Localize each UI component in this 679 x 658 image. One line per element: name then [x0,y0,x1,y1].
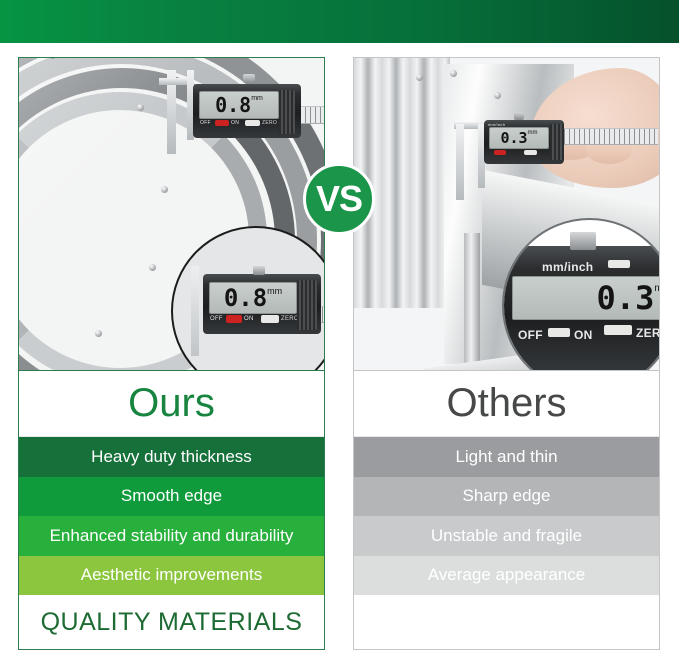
caliper-reading-others: 0.3 [500,131,527,146]
ours-footer-row: QUALITY MATERIALS [19,595,324,649]
inset-on-label-others: ON [574,328,593,342]
ours-panel: 0.8 mm OFF ON ZERO 0.8 mm OFF [18,57,325,650]
others-feature-label-3: Unstable and fragile [431,526,582,546]
vs-badge: VS [303,163,375,235]
inset-reading-ours: 0.8 [224,286,267,310]
caliper-zero-button-others [524,150,537,155]
ours-feature-label-1: Heavy duty thickness [91,447,252,467]
digital-caliper-ours: 0.8 mm OFF ON ZERO [159,64,324,160]
caliper-power-switch-others [494,150,506,155]
inset-zero-button-ours [261,315,279,323]
caliper-reading-ours: 0.8 [215,95,251,115]
others-title: Others [354,371,659,437]
others-feature-label-2: Sharp edge [463,486,551,506]
ours-feature-row-2: Smooth edge [19,477,324,517]
ours-feature-row-3: Enhanced stability and durability [19,516,324,556]
caliper-on-label-ours: ON [231,120,239,126]
caliper-power-switch-ours [215,120,229,126]
caliper-mode-label-others: mm/inch [488,122,505,127]
caliper-off-label-ours: OFF [200,120,211,126]
ours-feature-row-4: Aesthetic improvements [19,556,324,596]
inset-mode-label-others: mm/inch [542,260,593,274]
others-feature-row-4: Average appearance [354,556,659,596]
inset-reading-others: 0.3 [597,282,655,314]
ours-feature-label-4: Aesthetic improvements [81,565,262,585]
ours-title: Ours [19,371,324,437]
others-product-photo: 0.3 mm mm/inch mm/inch 0.3 mm OFF ON ZER… [354,58,659,371]
caliper-zero-button-ours [245,120,260,126]
others-feature-row-2: Sharp edge [354,477,659,517]
inset-mode-button-others [608,260,630,268]
ours-product-photo: 0.8 mm OFF ON ZERO 0.8 mm OFF [19,58,324,371]
ours-feature-row-1: Heavy duty thickness [19,437,324,477]
ours-feature-label-2: Smooth edge [121,486,222,506]
inset-power-switch-ours [226,315,242,323]
inset-off-label-ours: OFF [210,316,223,322]
inset-zero-button-others [604,325,632,335]
others-feature-label-4: Average appearance [428,565,586,585]
inset-power-switch-others [548,328,570,337]
top-green-banner [0,0,679,43]
others-feature-row-1: Light and thin [354,437,659,477]
caliper-unit-others: mm [528,130,538,136]
inset-unit-others: mm [654,283,659,294]
inset-off-label-others: OFF [518,328,543,342]
quality-materials-text: QUALITY MATERIALS [41,608,303,637]
inset-unit-ours: mm [267,286,282,296]
caliper-zero-label-ours: ZERO [262,120,277,126]
inset-zero-label-others: ZERO [636,326,659,340]
caliper-unit-ours: mm [251,95,263,102]
inset-on-label-ours: ON [244,316,254,322]
others-footer-row [354,595,659,649]
others-feature-row-3: Unstable and fragile [354,516,659,556]
ours-feature-label-3: Enhanced stability and durability [50,526,294,546]
vs-label: VS [316,181,362,217]
others-panel: 0.3 mm mm/inch mm/inch 0.3 mm OFF ON ZER… [353,57,660,650]
digital-caliper-others: 0.3 mm mm/inch [454,116,659,206]
others-feature-label-1: Light and thin [455,447,557,467]
